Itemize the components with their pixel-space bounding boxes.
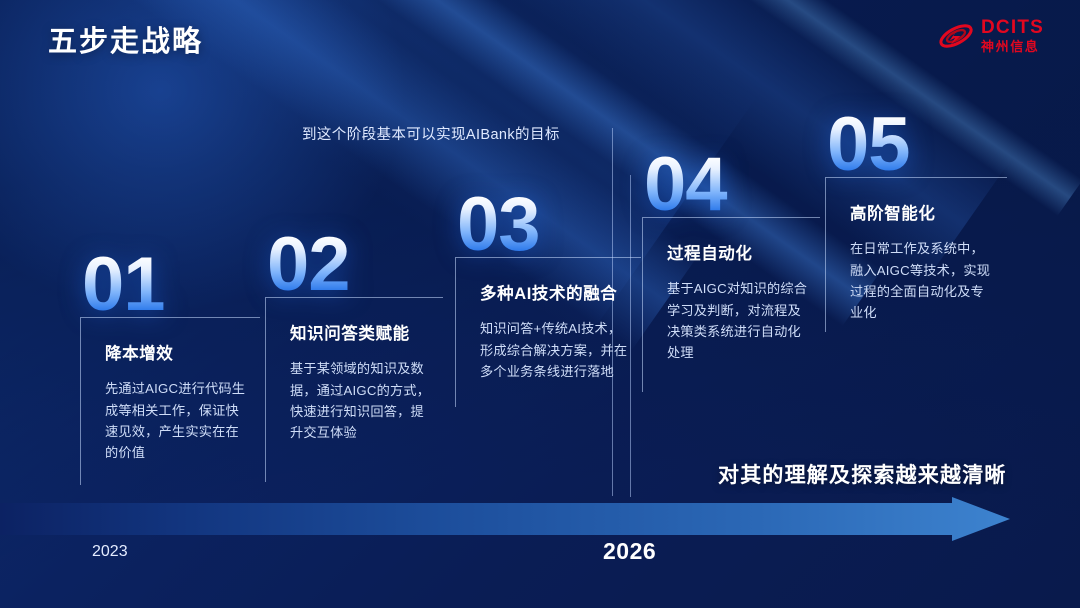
step-body-03: 知识问答+传统AI技术，形成综合解决方案，并在多个业务条线进行落地 xyxy=(480,318,631,382)
dcits-swirl-icon xyxy=(938,20,974,52)
step-title-04: 过程自动化 xyxy=(667,240,810,264)
annotation-aibank-goal: 到这个阶段基本可以实现AIBank的目标 xyxy=(302,123,560,144)
logo-text-en: DCITS xyxy=(981,18,1044,37)
step-number-03: 03 xyxy=(457,192,641,257)
step-card-02: 02 知识问答类赋能 基于某领域的知识及数据，通过AIGC的方式，快速进行知识回… xyxy=(265,232,443,482)
step-body-04: 基于AIGC对知识的综合学习及判断，对流程及决策类系统进行自动化处理 xyxy=(667,278,810,364)
step-title-02: 知识问答类赋能 xyxy=(290,320,433,344)
step-bracket-02: 知识问答类赋能 基于某领域的知识及数据，通过AIGC的方式，快速进行知识回答，提… xyxy=(265,297,443,482)
step-card-05: 05 高阶智能化 在日常工作及系统中，融入AIGC等技术，实现过程的全面自动化及… xyxy=(825,112,1007,332)
step-body-01: 先通过AIGC进行代码生成等相关工作，保证快速见效，产生实实在在的价值 xyxy=(105,378,250,464)
brand-logo: DCITS 神州信息 xyxy=(938,18,1044,53)
logo-text-cn: 神州信息 xyxy=(981,40,1044,53)
timeline-arrow xyxy=(0,497,1010,541)
step-title-01: 降本增效 xyxy=(105,340,250,364)
step-number-01: 01 xyxy=(82,252,260,317)
step-title-05: 高阶智能化 xyxy=(850,200,997,224)
step-card-04: 04 过程自动化 基于AIGC对知识的综合学习及判断，对流程及决策类系统进行自动… xyxy=(642,152,820,392)
slide-root: 五步走战略 DCITS 神州信息 到这个阶段基本可以实现AIBank的目标 01… xyxy=(0,0,1080,608)
step-bracket-05: 高阶智能化 在日常工作及系统中，融入AIGC等技术，实现过程的全面自动化及专业化 xyxy=(825,177,1007,332)
step-body-02: 基于某领域的知识及数据，通过AIGC的方式，快速进行知识回答，提升交互体验 xyxy=(290,358,433,444)
timeline-year-end: 2026 xyxy=(603,538,656,565)
caption-understanding: 对其的理解及探索越来越清晰 xyxy=(718,459,1007,489)
step-card-03: 03 多种AI技术的融合 知识问答+传统AI技术，形成综合解决方案，并在多个业务… xyxy=(455,192,641,407)
step-bracket-03: 多种AI技术的融合 知识问答+传统AI技术，形成综合解决方案，并在多个业务条线进… xyxy=(455,257,641,407)
right-arrow-icon xyxy=(0,497,1010,541)
step-number-02: 02 xyxy=(267,232,443,297)
step-card-01: 01 降本增效 先通过AIGC进行代码生成等相关工作，保证快速见效，产生实实在在… xyxy=(80,252,260,485)
step-body-05: 在日常工作及系统中，融入AIGC等技术，实现过程的全面自动化及专业化 xyxy=(850,238,997,324)
step-bracket-01: 降本增效 先通过AIGC进行代码生成等相关工作，保证快速见效，产生实实在在的价值 xyxy=(80,317,260,485)
step-title-03: 多种AI技术的融合 xyxy=(480,280,631,304)
step-number-05: 05 xyxy=(827,112,1007,177)
step-bracket-04: 过程自动化 基于AIGC对知识的综合学习及判断，对流程及决策类系统进行自动化处理 xyxy=(642,217,820,392)
step-number-04: 04 xyxy=(644,152,820,217)
page-title: 五步走战略 xyxy=(48,18,203,60)
timeline-year-start: 2023 xyxy=(92,543,128,561)
